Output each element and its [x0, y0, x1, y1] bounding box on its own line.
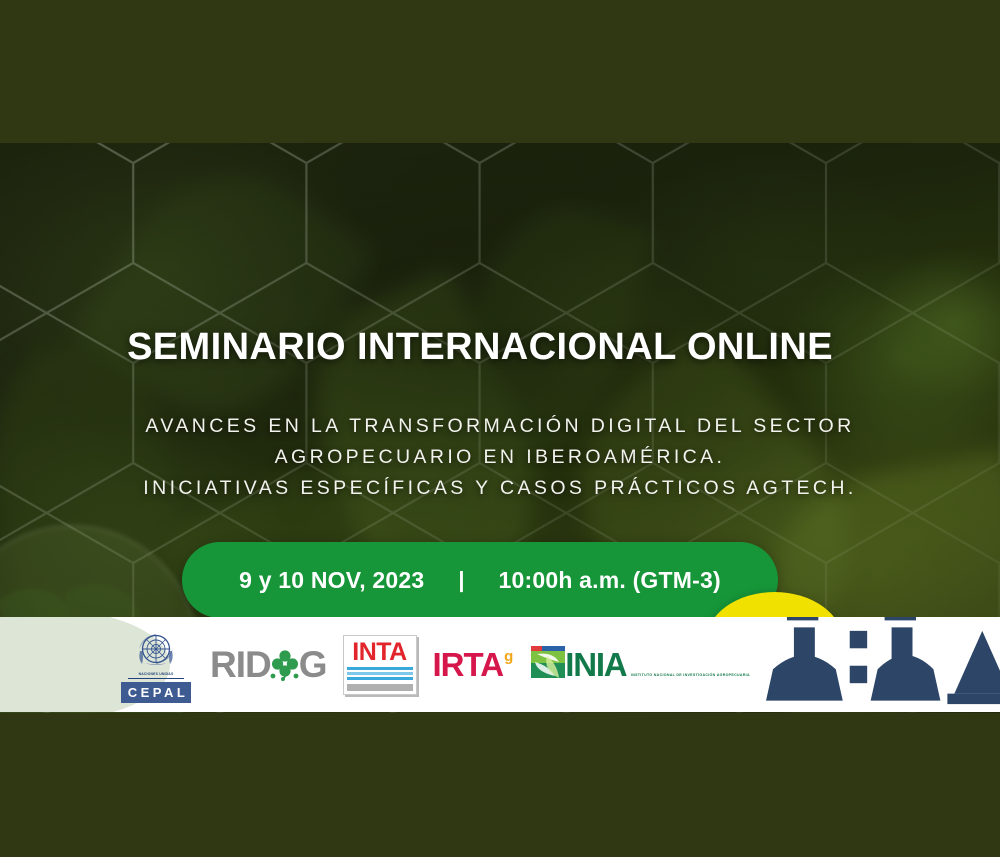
- inta-base-bar: [347, 684, 413, 691]
- inta-stripes-icon: [347, 667, 413, 682]
- irta-wordmark: IRTA: [433, 646, 504, 684]
- page-root: SEMINARIO INTERNACIONAL ONLINE AVANCES E…: [0, 0, 1000, 857]
- logo-inia[interactable]: INIA INSTITUTO NACIONAL DE INVESTIGACIÓN…: [529, 644, 750, 686]
- clover-leaf-icon: [269, 645, 301, 685]
- logo-inta[interactable]: INTA: [343, 635, 417, 695]
- cepal-divider: [128, 678, 184, 679]
- event-date: 9 y 10 NOV, 2023: [239, 567, 424, 594]
- logo-inia-uruguay[interactable]: URUGUAY: [766, 617, 1000, 712]
- ridag-wordmark-left: RID: [210, 644, 271, 686]
- inia-wordmark: INIA: [565, 646, 626, 683]
- ridag-wordmark-right: G: [299, 644, 327, 686]
- inia-emblem-icon: [529, 644, 567, 686]
- banner-subtitle: AVANCES EN LA TRANSFORMACIÓN DIGITAL DEL…: [50, 411, 950, 504]
- subtitle-line-2: AGROPECUARIO EN IBEROAMÉRICA.: [50, 442, 950, 473]
- cepal-caption: NACIONES UNIDAS: [118, 672, 194, 676]
- event-time: 10:00h a.m. (GTM-3): [499, 567, 721, 594]
- pill-separator: |: [424, 567, 498, 593]
- inia-uruguay-emblem-icon: [766, 617, 1000, 712]
- subtitle-line-1: AVANCES EN LA TRANSFORMACIÓN DIGITAL DEL…: [50, 411, 950, 442]
- inta-wordmark: INTA: [347, 639, 413, 665]
- cepal-wordmark: CEPAL: [121, 682, 191, 703]
- logo-irta[interactable]: IRTA g: [433, 646, 514, 684]
- logo-ridag[interactable]: RID G: [210, 644, 327, 686]
- subtitle-line-3: INICIATIVAS ESPECÍFICAS Y CASOS PRÁCTICO…: [50, 473, 950, 504]
- inia-caption: INSTITUTO NACIONAL DE INVESTIGACIÓN AGRO…: [631, 673, 750, 677]
- logo-cepal[interactable]: NACIONES UNIDAS CEPAL: [118, 627, 194, 703]
- date-time-pill: 9 y 10 NOV, 2023 | 10:00h a.m. (GTM-3): [182, 542, 778, 618]
- united-nations-emblem-icon: [134, 627, 178, 671]
- partner-logo-bar: NACIONES UNIDAS CEPAL RID: [0, 617, 1000, 712]
- partner-logo-list: NACIONES UNIDAS CEPAL RID: [118, 617, 1000, 712]
- banner-title: SEMINARIO INTERNACIONAL ONLINE: [0, 326, 960, 369]
- irta-superscript: g: [504, 648, 513, 665]
